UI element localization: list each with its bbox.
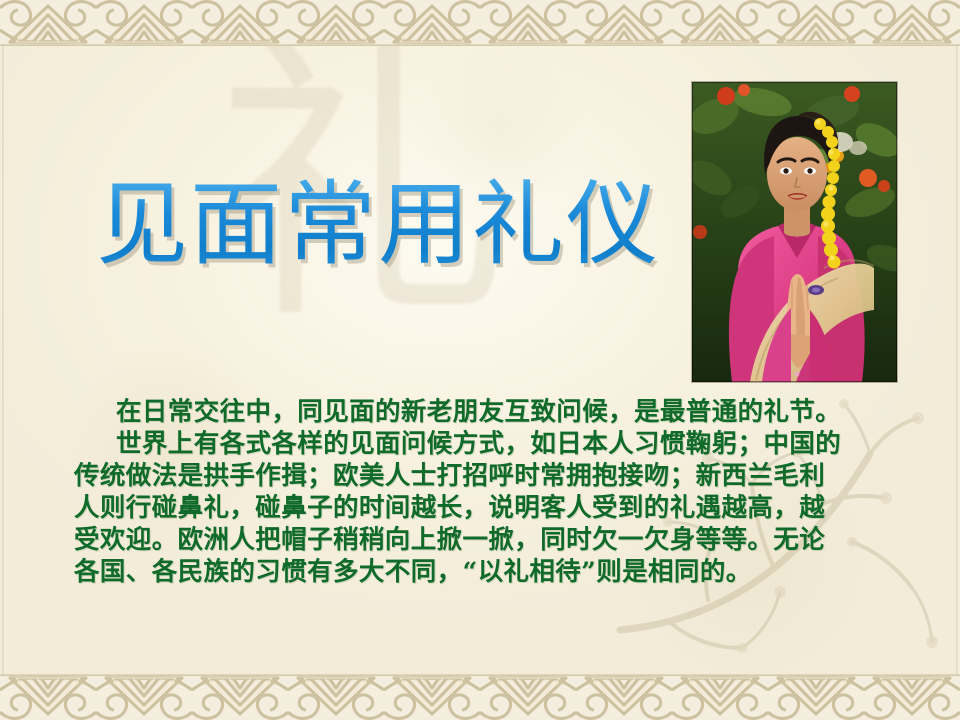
body-line: 世界上有各式各样的见面问候方式，如日本人习惯鞠躬；中国的 <box>74 428 814 460</box>
slide-title: 见面常用礼仪 <box>96 170 656 280</box>
body-line: 各国、各民族的习惯有多大不同，“以礼相待”则是相同的。 <box>74 556 814 588</box>
greeting-photo <box>692 82 897 382</box>
frame-edge-right <box>956 46 958 674</box>
body-line: 人则行碰鼻礼，碰鼻子的时间越长，说明客人受到的礼遇越高，越 <box>74 492 814 524</box>
ornament-rule-bottom <box>0 674 960 676</box>
body-paragraph: 在日常交往中，同见面的新老朋友互致问候，是最普通的礼节。 世界上有各式各样的见面… <box>74 396 814 588</box>
body-line: 传统做法是拱手作揖；欧美人士打招呼时常拥抱接吻；新西兰毛利 <box>74 460 814 492</box>
body-line: 在日常交往中，同见面的新老朋友互致问候，是最普通的礼节。 <box>74 396 814 428</box>
body-line: 受欢迎。欧洲人把帽子稍稍向上掀一掀，同时欠一欠身等等。无论 <box>74 524 814 556</box>
frame-edge-left <box>2 46 4 674</box>
ornament-border-top <box>0 0 960 44</box>
ornament-rule-top <box>0 44 960 46</box>
ornament-border-bottom <box>0 676 960 720</box>
slide-canvas: 礼 <box>0 0 960 720</box>
